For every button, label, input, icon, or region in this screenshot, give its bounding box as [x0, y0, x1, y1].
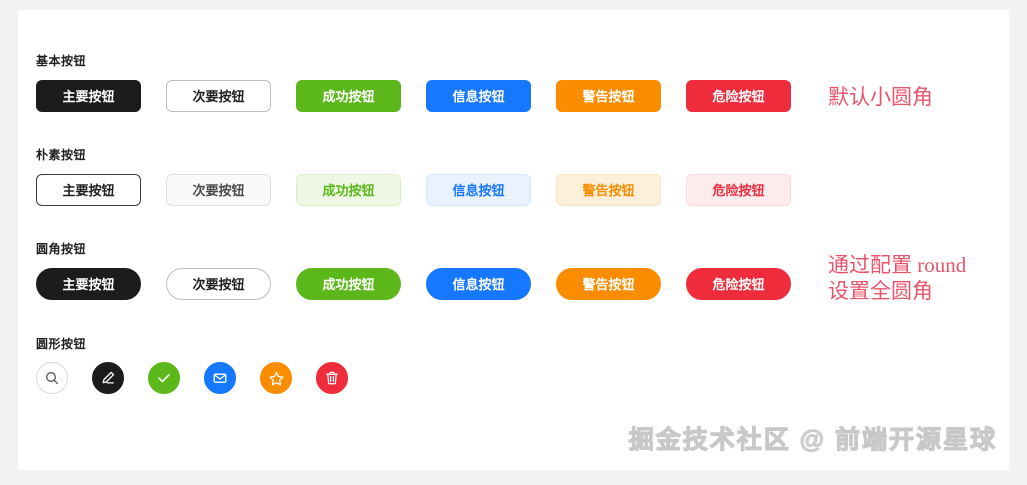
page-root: 基本按钮 主要按钮 次要按钮 成功按钮 信息按钮 警告按钮 危险按钮 默认小圆角… [0, 0, 1027, 485]
circle-button-search[interactable] [36, 362, 68, 394]
button-row-circle [36, 362, 372, 394]
circle-button-mail[interactable] [204, 362, 236, 394]
button-round-info[interactable]: 信息按钮 [426, 268, 531, 300]
button-plain-success[interactable]: 成功按钮 [296, 174, 401, 206]
annotation-round: 通过配置 round 设置全圆角 [828, 252, 966, 304]
button-basic-info[interactable]: 信息按钮 [426, 80, 531, 112]
button-basic-success[interactable]: 成功按钮 [296, 80, 401, 112]
button-round-secondary[interactable]: 次要按钮 [166, 268, 271, 300]
button-round-danger[interactable]: 危险按钮 [686, 268, 791, 300]
button-round-primary[interactable]: 主要按钮 [36, 268, 141, 300]
button-plain-primary[interactable]: 主要按钮 [36, 174, 141, 206]
button-basic-secondary[interactable]: 次要按钮 [166, 80, 271, 112]
button-basic-warning[interactable]: 警告按钮 [556, 80, 661, 112]
button-row-plain: 主要按钮 次要按钮 成功按钮 信息按钮 警告按钮 危险按钮 [36, 174, 816, 206]
button-row-round: 主要按钮 次要按钮 成功按钮 信息按钮 警告按钮 危险按钮 [36, 268, 816, 300]
section-label-round: 圆角按钮 [36, 240, 86, 257]
edit-icon [100, 370, 116, 386]
check-icon [156, 370, 172, 386]
section-label-plain: 朴素按钮 [36, 146, 86, 163]
star-icon [268, 370, 285, 387]
watermark: 掘金技术社区 @ 前端开源星球 [629, 420, 997, 456]
button-plain-danger[interactable]: 危险按钮 [686, 174, 791, 206]
button-plain-info[interactable]: 信息按钮 [426, 174, 531, 206]
button-plain-warning[interactable]: 警告按钮 [556, 174, 661, 206]
button-round-warning[interactable]: 警告按钮 [556, 268, 661, 300]
demo-card: 基本按钮 主要按钮 次要按钮 成功按钮 信息按钮 警告按钮 危险按钮 默认小圆角… [18, 10, 1009, 470]
circle-button-star[interactable] [260, 362, 292, 394]
button-plain-secondary[interactable]: 次要按钮 [166, 174, 271, 206]
button-basic-danger[interactable]: 危险按钮 [686, 80, 791, 112]
trash-icon [324, 370, 340, 386]
button-round-success[interactable]: 成功按钮 [296, 268, 401, 300]
section-label-basic: 基本按钮 [36, 52, 86, 69]
circle-button-check[interactable] [148, 362, 180, 394]
circle-button-edit[interactable] [92, 362, 124, 394]
mail-icon [212, 370, 228, 386]
annotation-basic: 默认小圆角 [828, 84, 933, 110]
section-label-circle: 圆形按钮 [36, 335, 86, 352]
button-row-basic: 主要按钮 次要按钮 成功按钮 信息按钮 警告按钮 危险按钮 [36, 80, 816, 112]
search-icon [44, 370, 60, 386]
button-basic-primary[interactable]: 主要按钮 [36, 80, 141, 112]
circle-button-trash[interactable] [316, 362, 348, 394]
